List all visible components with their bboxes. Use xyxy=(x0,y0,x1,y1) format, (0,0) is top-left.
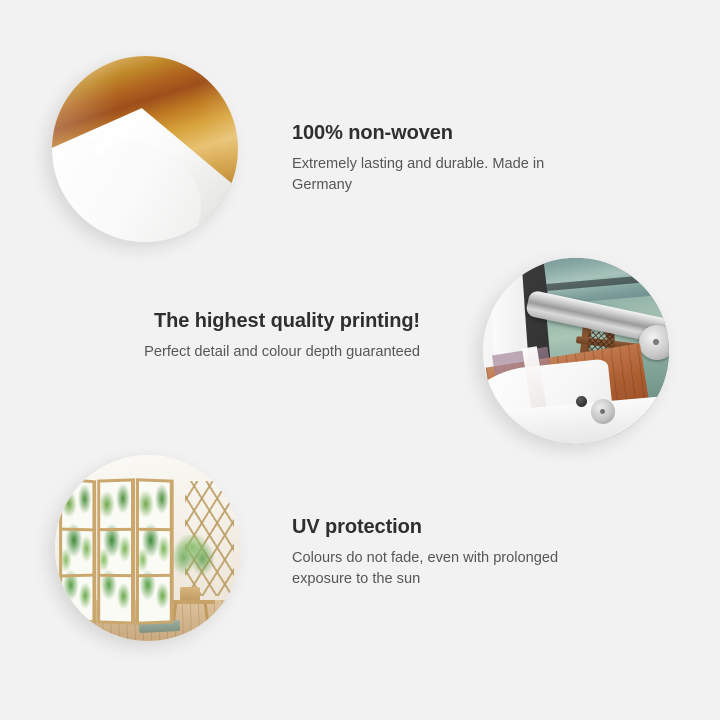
room-divider-screen xyxy=(59,479,174,624)
feature-description-printing: Perfect detail and colour depth guarante… xyxy=(100,342,420,363)
potted-palm-plant xyxy=(170,535,215,591)
feature-title-uv-protection: UV protection xyxy=(292,515,592,539)
feature-title-printing: The highest quality printing! xyxy=(100,309,420,333)
feature-description-non-woven: Extremely lasting and durable. Made in G… xyxy=(292,154,604,197)
printer-roller-wheel xyxy=(591,399,615,423)
printer-knob xyxy=(576,396,587,407)
roller-end-cap xyxy=(639,325,669,360)
tropical-room-divider-image xyxy=(55,455,241,641)
feature-text-uv-protection: UV protection Colours do not fade, even … xyxy=(292,515,592,591)
image-clip xyxy=(52,56,238,242)
wallpaper-roll-curling-corner-image xyxy=(52,56,238,242)
feature-description-uv-protection: Colours do not fade, even with prolonged… xyxy=(292,548,592,591)
feature-text-printing: The highest quality printing! Perfect de… xyxy=(100,309,420,363)
table-leg-right xyxy=(204,603,210,625)
divider-panel-1 xyxy=(59,478,96,626)
feature-infographic: 100% non-woven Extremely lasting and dur… xyxy=(0,0,720,720)
feature-title-non-woven: 100% non-woven xyxy=(292,121,604,145)
divider-panel-3 xyxy=(136,478,174,625)
feature-text-non-woven: 100% non-woven Extremely lasting and dur… xyxy=(292,121,604,197)
image-clip xyxy=(55,455,241,641)
large-format-printer-image xyxy=(483,258,669,444)
divider-panel-2 xyxy=(97,479,135,625)
image-clip xyxy=(483,258,669,444)
